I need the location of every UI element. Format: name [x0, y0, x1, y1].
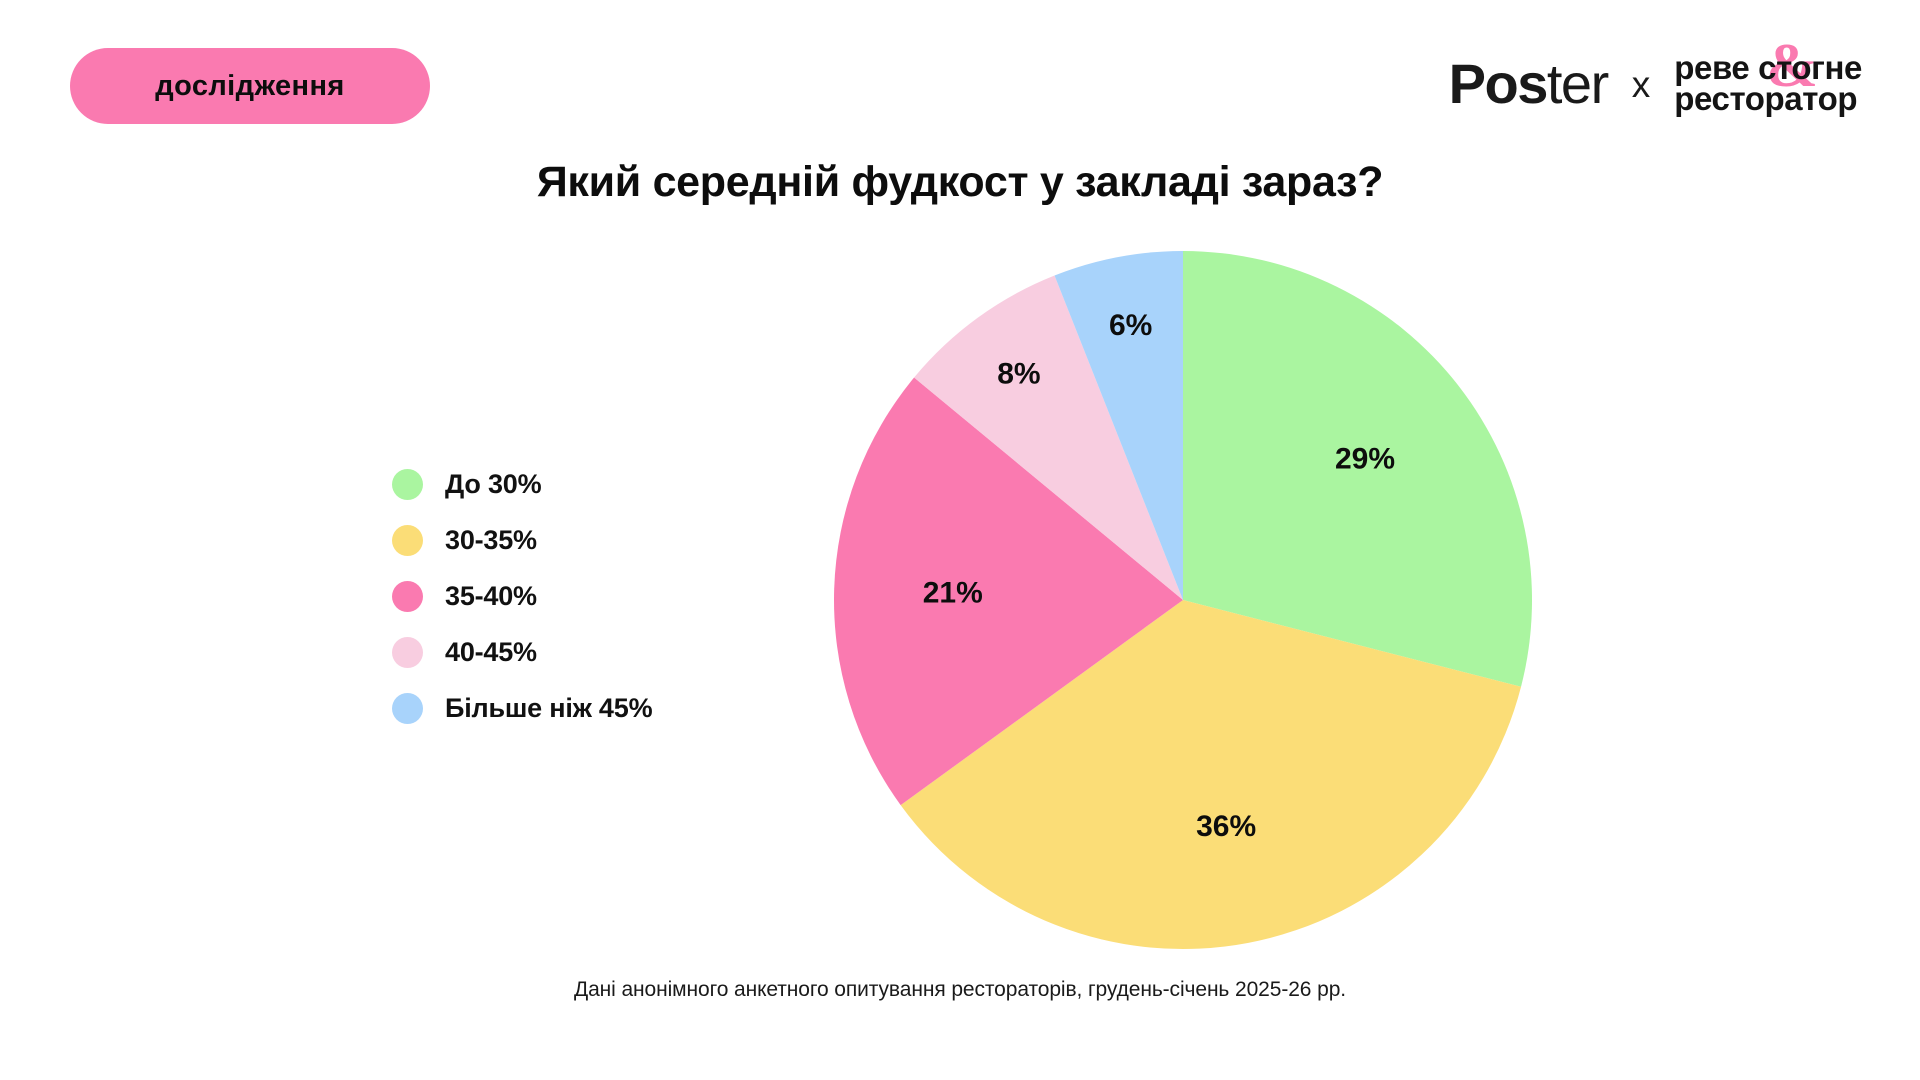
footnote: Дані анонімного анкетного опитування рес…	[0, 978, 1920, 1002]
poster-logo-light: ter	[1547, 56, 1608, 112]
pie-slice-label: 29%	[1335, 442, 1395, 475]
research-badge: дослідження	[70, 48, 430, 124]
pie-slice-label: 6%	[1109, 309, 1152, 342]
legend-item: До 30%	[392, 468, 652, 500]
research-badge-label: дослідження	[155, 72, 344, 101]
legend-item: 30-35%	[392, 524, 652, 556]
legend-item-label: Більше ніж 45%	[445, 693, 652, 724]
pie-chart: 29%36%21%8%6%	[833, 250, 1533, 950]
legend-item-label: 30-35%	[445, 525, 537, 556]
pie-slice-label: 8%	[997, 358, 1040, 391]
pie-chart-svg: 29%36%21%8%6%	[833, 250, 1533, 950]
legend-swatch-icon	[392, 693, 423, 724]
legend-swatch-icon	[392, 581, 423, 612]
brand-bar: Poster x & реве стогне ресторатор	[1449, 38, 1862, 130]
legend-item: 40-45%	[392, 636, 652, 668]
revestogne-logo-line2: ресторатор	[1674, 84, 1862, 115]
page-title: Який середній фудкост у закладі зараз?	[0, 158, 1920, 207]
legend-swatch-icon	[392, 637, 423, 668]
collab-x-icon: x	[1630, 66, 1653, 103]
legend-item: 35-40%	[392, 580, 652, 612]
legend-item: Більше ніж 45%	[392, 692, 652, 724]
legend-swatch-icon	[392, 525, 423, 556]
legend-item-label: 40-45%	[445, 637, 537, 668]
legend-item-label: 35-40%	[445, 581, 537, 612]
legend-swatch-icon	[392, 469, 423, 500]
poster-logo: Poster	[1449, 56, 1608, 112]
revestogne-restorator-logo: & реве стогне ресторатор	[1674, 53, 1862, 114]
pie-slice-label: 21%	[923, 576, 983, 609]
poster-logo-bold: Pos	[1449, 56, 1547, 112]
legend-item-label: До 30%	[445, 469, 541, 500]
chart-legend: До 30% 30-35% 35-40% 40-45% Більше ніж 4…	[392, 468, 652, 724]
pie-slice-label: 36%	[1196, 810, 1256, 843]
